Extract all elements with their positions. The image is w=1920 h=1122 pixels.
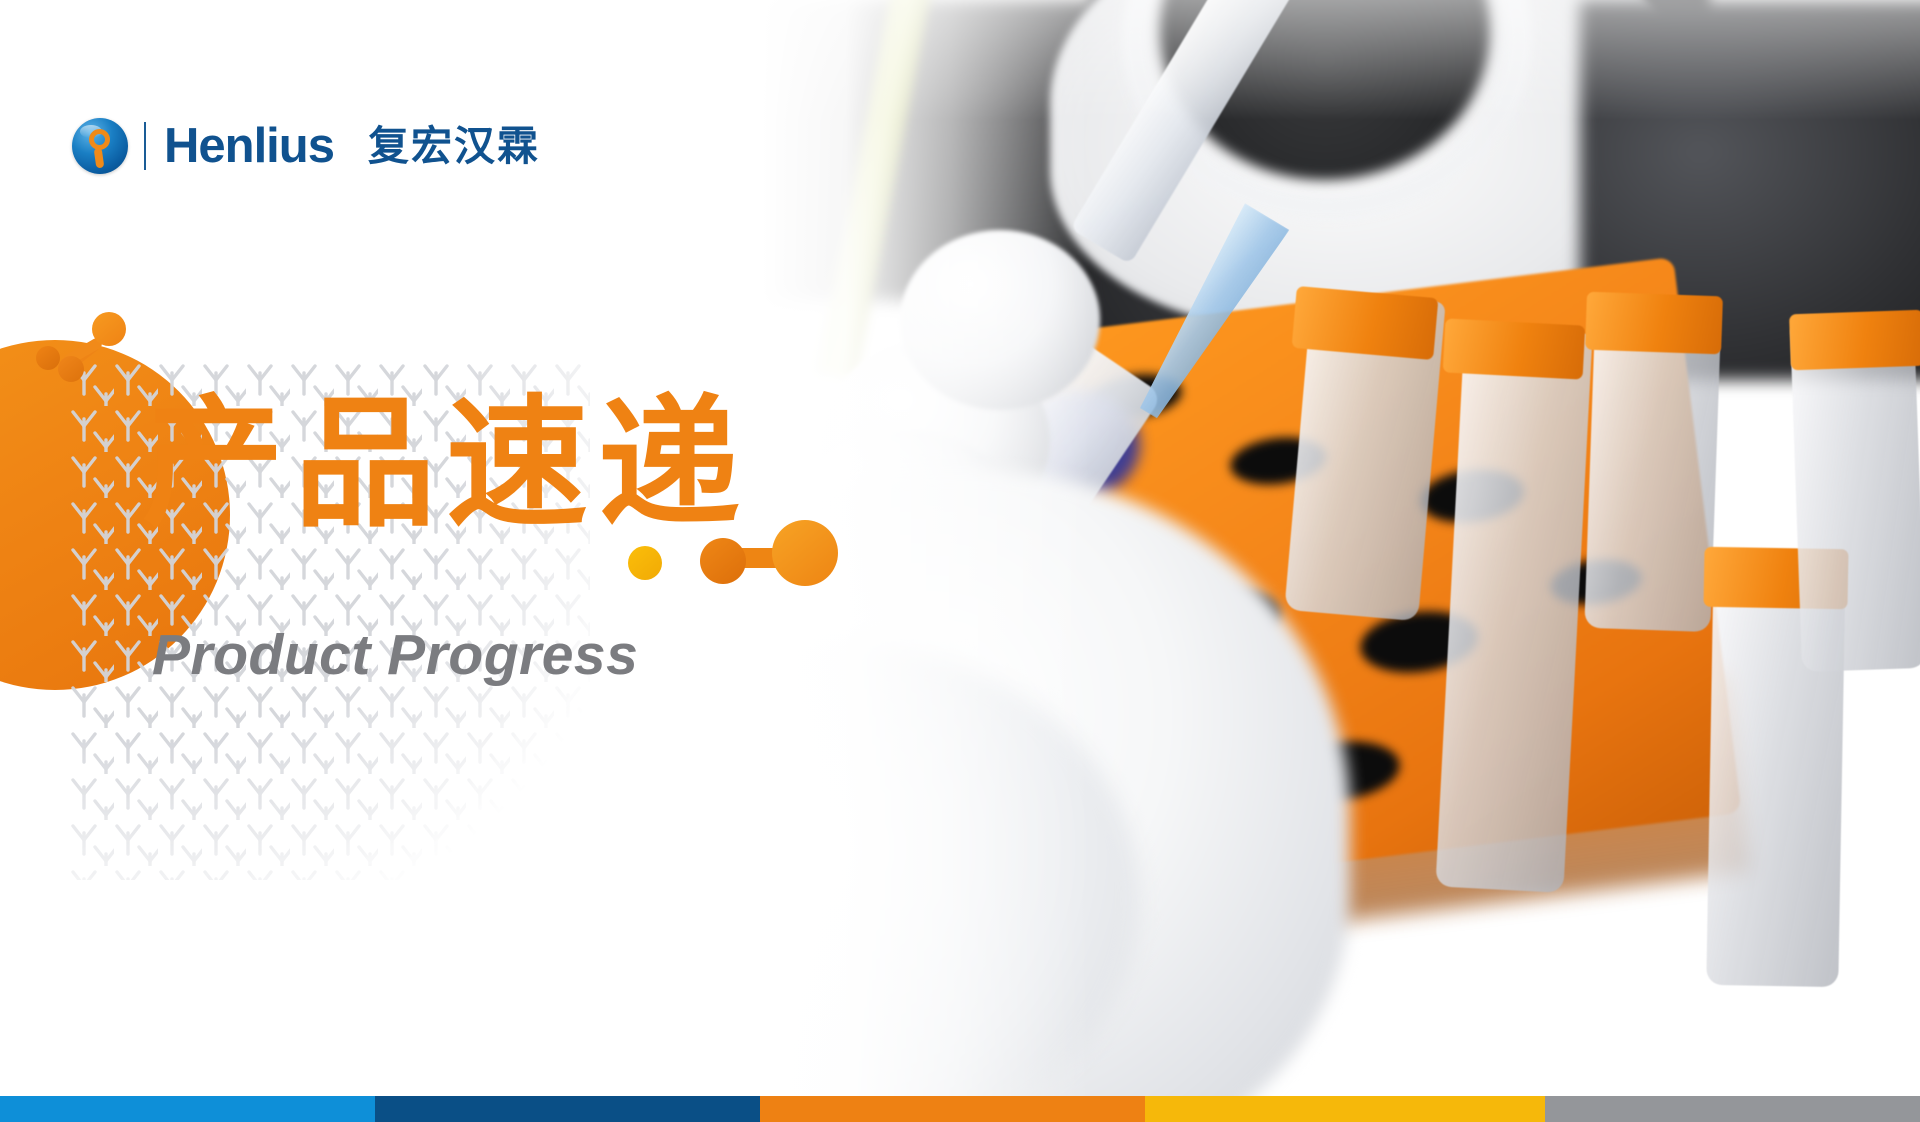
bar-segment-light-blue (0, 1096, 375, 1122)
molecule-node (772, 520, 838, 586)
bar-segment-gray (1545, 1096, 1920, 1122)
photo-canvas: Bloo (760, 0, 1920, 1096)
henlius-circular-logomark (72, 118, 128, 174)
molecule-node (58, 356, 84, 382)
bar-segment-gold (1145, 1096, 1545, 1122)
photo-tube-cap (1443, 318, 1586, 379)
slide-root: Bloo (0, 0, 1920, 1122)
logomark-orange-ring (89, 129, 110, 150)
photo-tube-cap (1789, 310, 1920, 371)
photo-tube-cap (1585, 292, 1723, 355)
logo-divider (144, 122, 146, 170)
molecule-dumbbell-top (36, 312, 146, 384)
henlius-logo[interactable]: Henlius 复宏汉霖 (72, 118, 540, 174)
logo-chinese-name: 复宏汉霖 (368, 126, 540, 167)
brand-color-bar (0, 1096, 1920, 1122)
logomark-orange-tail (94, 148, 105, 169)
gold-dot (628, 546, 662, 580)
laboratory-pipetting-photo: Bloo (760, 0, 1920, 1096)
page-subtitle-english: Product Progress (152, 622, 638, 688)
molecule-node (36, 346, 60, 370)
bar-segment-orange (760, 1096, 1145, 1122)
bar-segment-dark-blue (375, 1096, 760, 1122)
logo-english-name: Henlius (164, 122, 334, 171)
photo-sample-tube (1790, 318, 1920, 672)
photo-tube-cap (1292, 286, 1439, 360)
molecule-node (92, 312, 126, 346)
page-title-chinese: 产品速递 (142, 381, 750, 549)
